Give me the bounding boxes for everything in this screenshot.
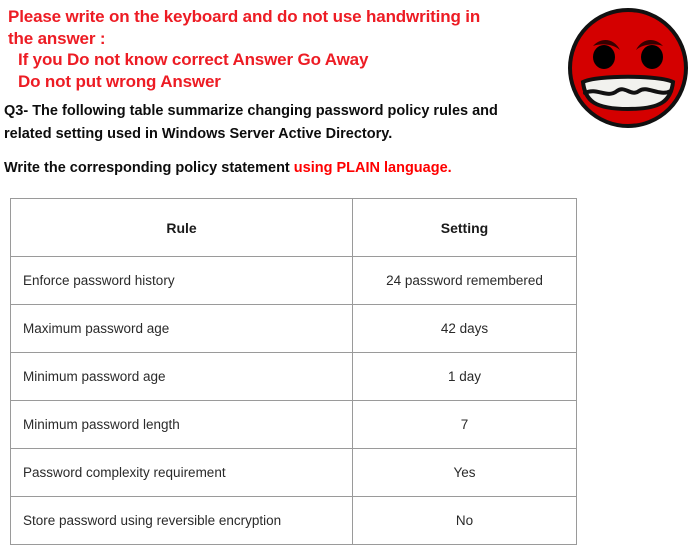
setting-cell: 1 day	[353, 353, 577, 401]
question-line-2: related setting used in Windows Server A…	[4, 123, 564, 146]
warning-line-4: Do not put wrong Answer	[8, 71, 568, 93]
question-text: Q3- The following table summarize changi…	[4, 100, 564, 146]
table-header-row: Rule Setting	[11, 199, 577, 257]
instruction-prefix: Write the corresponding policy statement	[4, 160, 294, 176]
column-header-setting: Setting	[353, 199, 577, 257]
password-policy-table: Rule Setting Enforce password history24 …	[10, 198, 577, 545]
rule-cell: Enforce password history	[11, 257, 353, 305]
setting-cell: Yes	[353, 449, 577, 497]
instruction-highlight: using PLAIN language.	[294, 160, 452, 176]
setting-cell: 7	[353, 401, 577, 449]
setting-cell: No	[353, 497, 577, 545]
setting-cell: 42 days	[353, 305, 577, 353]
rule-cell: Store password using reversible encrypti…	[11, 497, 353, 545]
warning-notice: Please write on the keyboard and do not …	[8, 6, 568, 92]
rule-cell: Maximum password age	[11, 305, 353, 353]
question-line-1: Q3- The following table summarize changi…	[4, 100, 564, 123]
warning-line-2: the answer :	[8, 28, 568, 50]
table-row: Minimum password length7	[11, 401, 577, 449]
angry-face-icon	[567, 7, 689, 129]
table-row: Enforce password history24 password reme…	[11, 257, 577, 305]
table-row: Maximum password age42 days	[11, 305, 577, 353]
instruction-text: Write the corresponding policy statement…	[4, 158, 452, 178]
column-header-rule: Rule	[11, 199, 353, 257]
rule-cell: Password complexity requirement	[11, 449, 353, 497]
warning-line-1: Please write on the keyboard and do not …	[8, 6, 568, 28]
table-row: Minimum password age1 day	[11, 353, 577, 401]
rule-cell: Minimum password length	[11, 401, 353, 449]
rule-cell: Minimum password age	[11, 353, 353, 401]
table-row: Password complexity requirementYes	[11, 449, 577, 497]
table-row: Store password using reversible encrypti…	[11, 497, 577, 545]
setting-cell: 24 password remembered	[353, 257, 577, 305]
warning-line-3: If you Do not know correct Answer Go Awa…	[8, 49, 568, 71]
